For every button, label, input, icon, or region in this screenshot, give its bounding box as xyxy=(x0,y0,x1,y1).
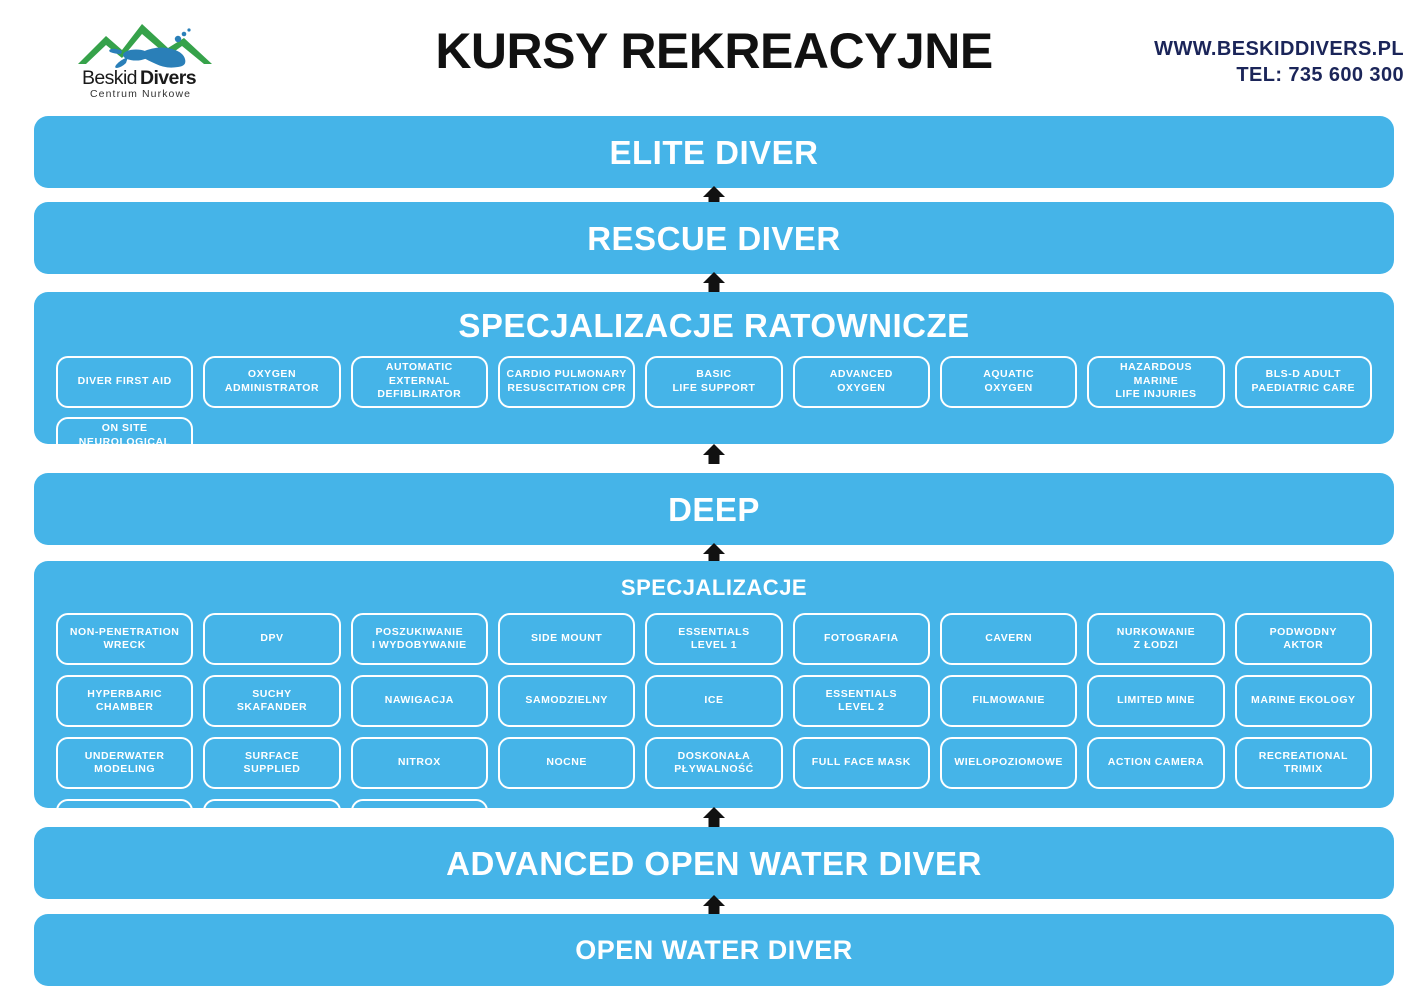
band-advanced-open-water-diver[interactable]: ADVANCED OPEN WATER DIVER xyxy=(34,827,1394,899)
website-text: WWW.BESKIDDIVERS.PL xyxy=(1154,36,1404,62)
band-specializations: SPECJALIZACJE NON-PENETRATION WRECKDPVPO… xyxy=(34,561,1394,808)
specialization-chip[interactable]: HYPERBARIC CHAMBER xyxy=(56,675,193,727)
specialization-chip[interactable]: UNDERWATER MODELING xyxy=(56,737,193,789)
rescue-specialization-chip[interactable]: OXYGEN ADMINISTRATOR xyxy=(203,356,340,408)
specialization-chip[interactable]: NURKOWANIE Z ŁODZI xyxy=(1087,613,1224,665)
rescue-specialization-chip[interactable]: DIVER FIRST AID xyxy=(56,356,193,408)
specialization-chip[interactable]: CAVERN xyxy=(940,613,1077,665)
specialization-chip[interactable]: ESSENTIALS LEVEL 2 xyxy=(793,675,930,727)
specialization-chip[interactable]: ICE xyxy=(645,675,782,727)
specialization-chip[interactable]: SUCHY SKAFANDER xyxy=(203,675,340,727)
band-open-water-diver[interactable]: OPEN WATER DIVER xyxy=(34,914,1394,986)
specialization-chip[interactable]: FULL FACE MASK xyxy=(793,737,930,789)
specialization-chip[interactable]: FOTOGRAFIA xyxy=(793,613,930,665)
band-deep[interactable]: DEEP xyxy=(34,473,1394,545)
svg-text:Centrum Nurkowe: Centrum Nurkowe xyxy=(90,88,191,100)
rescue-specializations-grid: DIVER FIRST AIDOXYGEN ADMINISTRATORAUTOM… xyxy=(34,356,1394,469)
band-open-water-diver-label: OPEN WATER DIVER xyxy=(34,936,1394,964)
rescue-specialization-chip[interactable]: BASIC LIFE SUPPORT xyxy=(645,356,782,408)
rescue-specialization-chip[interactable]: BLS-D ADULT PAEDIATRIC CARE xyxy=(1235,356,1372,408)
header: Beskid Divers Centrum Nurkowe KURSY REKR… xyxy=(0,0,1428,112)
band-elite-diver-label: ELITE DIVER xyxy=(34,136,1394,171)
specialization-chip[interactable]: NITROX xyxy=(351,737,488,789)
specialization-chip[interactable]: NOCNE xyxy=(498,737,635,789)
band-rescue-diver[interactable]: RESCUE DIVER xyxy=(34,202,1394,274)
specialization-chip[interactable]: POSZUKIWANIE I WYDOBYWANIE xyxy=(351,613,488,665)
band-deep-label: DEEP xyxy=(34,493,1394,528)
band-rescue-specializations: SPECJALIZACJE RATOWNICZE DIVER FIRST AID… xyxy=(34,292,1394,444)
rescue-specialization-chip[interactable]: HAZARDOUS MARINE LIFE INJURIES xyxy=(1087,356,1224,408)
rescue-specialization-chip[interactable]: ADVANCED OXYGEN xyxy=(793,356,930,408)
band-advanced-open-water-diver-label: ADVANCED OPEN WATER DIVER xyxy=(34,847,1394,882)
contact-info: WWW.BESKIDDIVERS.PL TEL: 735 600 300 xyxy=(1154,36,1404,89)
band-rescue-specializations-label: SPECJALIZACJE RATOWNICZE xyxy=(34,309,1394,344)
specialization-chip[interactable]: SIDE MOUNT xyxy=(498,613,635,665)
specialization-chip[interactable]: SAMODZIELNY xyxy=(498,675,635,727)
specializations-grid: NON-PENETRATION WRECKDPVPOSZUKIWANIE I W… xyxy=(34,613,1394,851)
specialization-chip[interactable]: NON-PENETRATION WRECK xyxy=(56,613,193,665)
specialization-chip[interactable]: RECREATIONAL TRIMIX xyxy=(1235,737,1372,789)
rescue-specialization-chip[interactable]: ON SITE NEUROLOGICAL ASSESSMENT xyxy=(56,417,193,469)
rescue-specialization-chip[interactable]: CARDIO PULMONARY RESUSCITATION CPR xyxy=(498,356,635,408)
specialization-chip[interactable]: FILMOWANIE xyxy=(940,675,1077,727)
specialization-chip[interactable]: ACTION CAMERA xyxy=(1087,737,1224,789)
progression-arrow-up-icon xyxy=(0,271,1428,293)
specialization-chip[interactable]: ESSENTIALS LEVEL 1 xyxy=(645,613,782,665)
specialization-chip[interactable]: NAWIGACJA xyxy=(351,675,488,727)
rescue-specialization-chip[interactable]: AQUATIC OXYGEN xyxy=(940,356,1077,408)
specialization-chip[interactable]: MARINE EKOLOGY xyxy=(1235,675,1372,727)
specialization-chip[interactable]: SURFACE SUPPLIED xyxy=(203,737,340,789)
specialization-chip[interactable]: LIMITED MINE xyxy=(1087,675,1224,727)
band-elite-diver[interactable]: ELITE DIVER xyxy=(34,116,1394,188)
band-rescue-diver-label: RESCUE DIVER xyxy=(34,222,1394,257)
course-progression-infographic: Beskid Divers Centrum Nurkowe KURSY REKR… xyxy=(0,0,1428,1000)
phone-text: TEL: 735 600 300 xyxy=(1154,62,1404,88)
specialization-chip[interactable]: PODWODNY AKTOR xyxy=(1235,613,1372,665)
specialization-chip[interactable]: WIELOPOZIOMOWE xyxy=(940,737,1077,789)
band-specializations-label: SPECJALIZACJE xyxy=(34,576,1394,599)
specialization-chip[interactable]: DPV xyxy=(203,613,340,665)
specialization-chip[interactable]: DOSKONAŁA PŁYWALNOŚĆ xyxy=(645,737,782,789)
rescue-specialization-chip[interactable]: AUTOMATIC EXTERNAL DEFIBLIRATOR xyxy=(351,356,488,408)
